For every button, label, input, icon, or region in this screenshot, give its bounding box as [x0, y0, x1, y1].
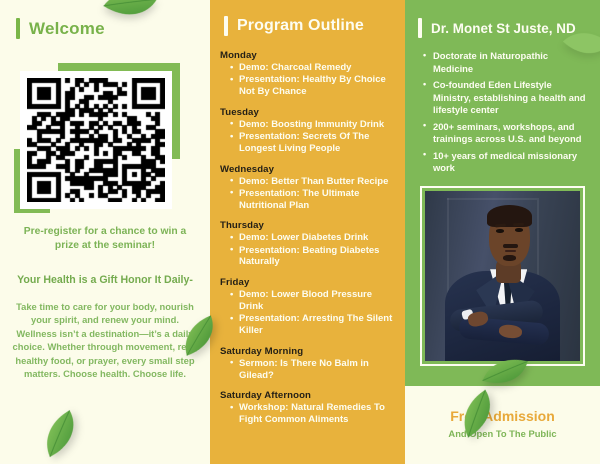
program-session-list: Demo: Lower Blood Pressure DrinkPresenta… [220, 289, 397, 337]
free-admission-title: Free Admission [405, 408, 600, 424]
program-session-item: Workshop: Natural Remedies To Fight Comm… [230, 402, 397, 426]
accent-bar-icon [16, 18, 20, 39]
speaker-bio-item: 200+ seminars, workshops, and trainings … [423, 121, 588, 146]
panel-welcome: Welcome Pre-register for a chance to win… [0, 0, 210, 464]
qr-code-block [14, 63, 180, 215]
program-session-item: Presentation: Beating Diabetes Naturally [230, 245, 397, 269]
eye-left [496, 229, 504, 232]
portrait-figure [425, 191, 580, 361]
moustache [503, 244, 519, 248]
panel-speaker: Dr. Monet St Juste, ND Doctorate in Natu… [405, 0, 600, 464]
chin-beard [503, 255, 517, 261]
speaker-bio-item: 10+ years of medical missionary work [423, 150, 588, 175]
speaker-photo-frame [420, 186, 585, 366]
welcome-heading: Welcome [16, 18, 210, 39]
program-day: TuesdayDemo: Boosting Immunity DrinkPres… [220, 107, 397, 155]
welcome-title: Welcome [29, 19, 105, 39]
speaker-bio-list: Doctorate in Naturopathic MedicineCo-fou… [423, 50, 588, 175]
hair [487, 205, 532, 227]
program-session-item: Demo: Charcoal Remedy [230, 62, 397, 74]
program-session-item: Demo: Lower Blood Pressure Drink [230, 289, 397, 313]
program-session-item: Presentation: The Ultimate Nutritional P… [230, 188, 397, 212]
qr-caption: Pre-register for a chance to win a prize… [14, 225, 196, 253]
panel-program-outline: Program Outline MondayDemo: Charcoal Rem… [210, 0, 405, 464]
qr-code-icon[interactable] [27, 78, 165, 202]
speaker-heading: Dr. Monet St Juste, ND [418, 18, 600, 38]
accent-bar-icon [224, 16, 228, 36]
program-session-item: Demo: Better Than Butter Recipe [230, 176, 397, 188]
program-session-item: Presentation: Healthy By Choice Not By C… [230, 74, 397, 98]
program-day: Saturday AfternoonWorkshop: Natural Reme… [220, 390, 397, 426]
program-session-list: Sermon: Is There No Balm in Gilead? [220, 358, 397, 382]
program-day-name: Saturday Morning [220, 346, 397, 357]
program-session-list: Demo: Charcoal RemedyPresentation: Healt… [220, 62, 397, 98]
speaker-bio-item: Co-founded Eden Lifestyle Ministry, esta… [423, 79, 588, 117]
program-day: FridayDemo: Lower Blood Pressure DrinkPr… [220, 277, 397, 337]
program-day: ThursdayDemo: Lower Diabetes DrinkPresen… [220, 220, 397, 268]
program-day: WednesdayDemo: Better Than Butter Recipe… [220, 164, 397, 212]
program-session-list: Demo: Better Than Butter RecipePresentat… [220, 176, 397, 212]
program-day-name: Saturday Afternoon [220, 390, 397, 401]
program-session-item: Demo: Boosting Immunity Drink [230, 119, 397, 131]
program-day-list: MondayDemo: Charcoal RemedyPresentation:… [220, 50, 397, 426]
free-admission-subtitle: And Open To The Public [405, 428, 600, 439]
health-body-text: Take time to care for your body, nourish… [12, 300, 198, 381]
qr-code-frame [20, 71, 172, 209]
program-day-name: Monday [220, 50, 397, 61]
program-session-list: Workshop: Natural Remedies To Fight Comm… [220, 402, 397, 426]
admission-block: Free Admission And Open To The Public [405, 386, 600, 464]
program-session-list: Demo: Lower Diabetes DrinkPresentation: … [220, 232, 397, 268]
program-session-item: Presentation: Secrets Of The Longest Liv… [230, 131, 397, 155]
speaker-bio-item: Doctorate in Naturopathic Medicine [423, 50, 588, 75]
program-day-name: Tuesday [220, 107, 397, 118]
eye-right [515, 228, 523, 231]
program-day-name: Friday [220, 277, 397, 288]
speaker-portrait [425, 191, 580, 361]
program-session-item: Demo: Lower Diabetes Drink [230, 232, 397, 244]
health-tagline: Your Health is a Gift Honor It Daily- [14, 273, 196, 287]
program-day: Saturday MorningSermon: Is There No Balm… [220, 346, 397, 382]
mouth [505, 250, 516, 252]
brochure-page: Welcome Pre-register for a chance to win… [0, 0, 600, 464]
program-session-item: Presentation: Arresting The Silent Kille… [230, 313, 397, 337]
program-heading: Program Outline [224, 16, 405, 36]
program-day-name: Thursday [220, 220, 397, 231]
program-day-name: Wednesday [220, 164, 397, 175]
program-session-item: Sermon: Is There No Balm in Gilead? [230, 358, 397, 382]
program-day: MondayDemo: Charcoal RemedyPresentation:… [220, 50, 397, 98]
program-title: Program Outline [237, 17, 364, 35]
program-session-list: Demo: Boosting Immunity DrinkPresentatio… [220, 119, 397, 155]
speaker-name: Dr. Monet St Juste, ND [431, 21, 576, 36]
accent-bar-icon [418, 18, 422, 38]
